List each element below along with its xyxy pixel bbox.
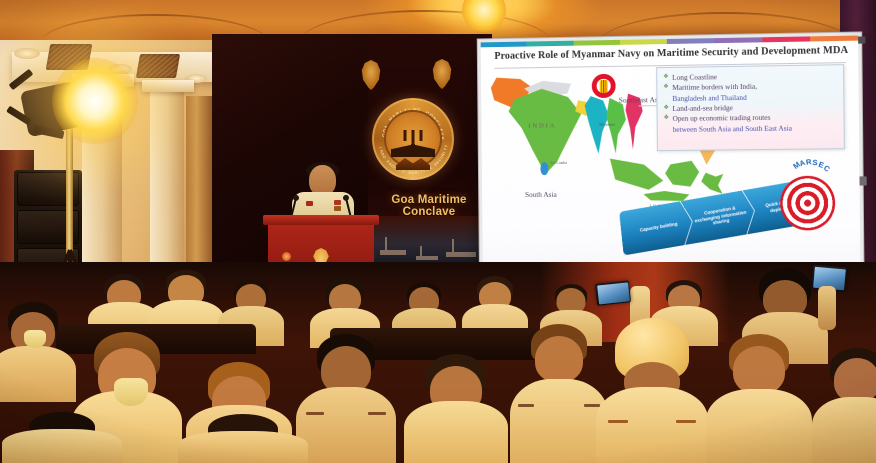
uniform-epaulette — [368, 412, 386, 415]
map-label-india: INDIA — [528, 122, 556, 129]
slide-bullet-3-continuation: between South Asia and South East Asia — [664, 123, 839, 135]
recessed-downlight — [14, 48, 40, 59]
conclave-seal-icon: GOA MARITIME CONCLAVEINDO PACIFIC MARITI… — [372, 98, 454, 180]
stripe-segment-3 — [620, 39, 667, 45]
process-chevron-label-0: Capacity building — [632, 220, 685, 235]
audience-shoulders — [296, 387, 396, 463]
audience-seating-area — [0, 262, 876, 463]
seal-letter: O — [382, 155, 387, 160]
seal-wing-right — [411, 144, 435, 157]
face-mask — [24, 330, 46, 348]
stripe-segment-6 — [762, 36, 810, 42]
audience-head — [535, 336, 583, 382]
map-region-borneo — [665, 161, 699, 189]
audience-member — [812, 348, 876, 463]
smartphone-recording[interactable] — [595, 280, 631, 305]
audience-member — [296, 334, 396, 463]
uniform-epaulette — [608, 420, 628, 423]
audience-shoulders — [596, 387, 708, 463]
map-label-myanmar: Myanmar — [599, 122, 615, 127]
uniform-epaulette — [518, 404, 534, 407]
audience-member — [706, 334, 812, 463]
seal-letter: C — [402, 169, 406, 174]
backdrop-banner-title: Goa Maritime Conclave — [366, 194, 492, 218]
hall-pillar — [150, 84, 184, 290]
audience-head — [733, 346, 785, 394]
slide-bullet-callout: Long CoastlineMaritime borders with Indi… — [656, 64, 845, 151]
screenshot-root: GOA MARITIME CONCLAVEINDO PACIFIC MARITI… — [0, 0, 876, 463]
face-mask — [114, 378, 148, 406]
audience-shoulders — [2, 429, 122, 463]
uniform-medal — [306, 201, 313, 206]
audience-shoulders — [510, 379, 608, 463]
audience-shoulders — [706, 389, 812, 463]
map-region-sumatra — [603, 150, 666, 198]
stage-light-glow — [52, 58, 138, 144]
audience-member — [178, 414, 308, 463]
ship-silhouette — [446, 252, 476, 257]
marsec-label: MARSEC — [776, 163, 843, 188]
process-chevron-label-1: Cooperation & exchanging information sha… — [693, 203, 748, 229]
stripe-segment-5 — [714, 37, 762, 43]
audience-arm — [818, 286, 836, 330]
ship-silhouette — [416, 256, 438, 260]
audience-shoulders — [178, 431, 308, 463]
map-region-sulawesi — [701, 173, 723, 195]
audience-member — [0, 302, 76, 402]
map-region-sri-lanka — [540, 162, 548, 175]
audience-shoulders — [404, 401, 508, 463]
stripe-segment-2 — [573, 40, 620, 46]
stripe-segment-0 — [481, 42, 527, 48]
presentation-slide: Proactive Role of Myanmar Navy on Mariti… — [481, 36, 861, 280]
stripe-segment-1 — [527, 41, 573, 47]
uniform-medal — [334, 206, 341, 211]
audience-shoulders — [812, 397, 876, 463]
slide-title: Proactive Role of Myanmar Navy on Mariti… — [494, 45, 846, 62]
stripe-segment-7 — [810, 36, 858, 42]
uniform-epaulette — [306, 412, 324, 415]
audience-member — [404, 354, 508, 463]
podium-indicator-light — [282, 252, 291, 261]
slide-bullet-list: Long CoastlineMaritime borders with Indi… — [657, 65, 844, 140]
map-label-sri-lanka: Sri Lanka — [550, 160, 567, 165]
audience-member-turban — [596, 318, 708, 463]
seal-letter: Y — [444, 144, 449, 148]
asean-emblem-icon — [592, 74, 616, 98]
hall-door — [186, 96, 212, 290]
uniform-epaulette — [676, 420, 696, 423]
map-label-south-asia: South Asia — [525, 190, 557, 199]
audience-member — [2, 412, 122, 463]
audience-head — [834, 358, 876, 402]
audience-shoulders — [0, 346, 76, 402]
seal-inner-disc — [384, 110, 442, 168]
uniform-medal — [334, 200, 341, 205]
ceiling-vent — [136, 54, 180, 78]
handshake-icon — [396, 158, 430, 170]
stripe-segment-4 — [667, 38, 714, 44]
projection-screen: Proactive Role of Myanmar Navy on Mariti… — [478, 32, 864, 282]
seal-letter: I — [417, 171, 419, 175]
pillar-capital — [142, 80, 194, 92]
audience-member — [510, 324, 608, 463]
ship-silhouette — [380, 250, 406, 255]
podium-lectern-top — [263, 215, 379, 225]
